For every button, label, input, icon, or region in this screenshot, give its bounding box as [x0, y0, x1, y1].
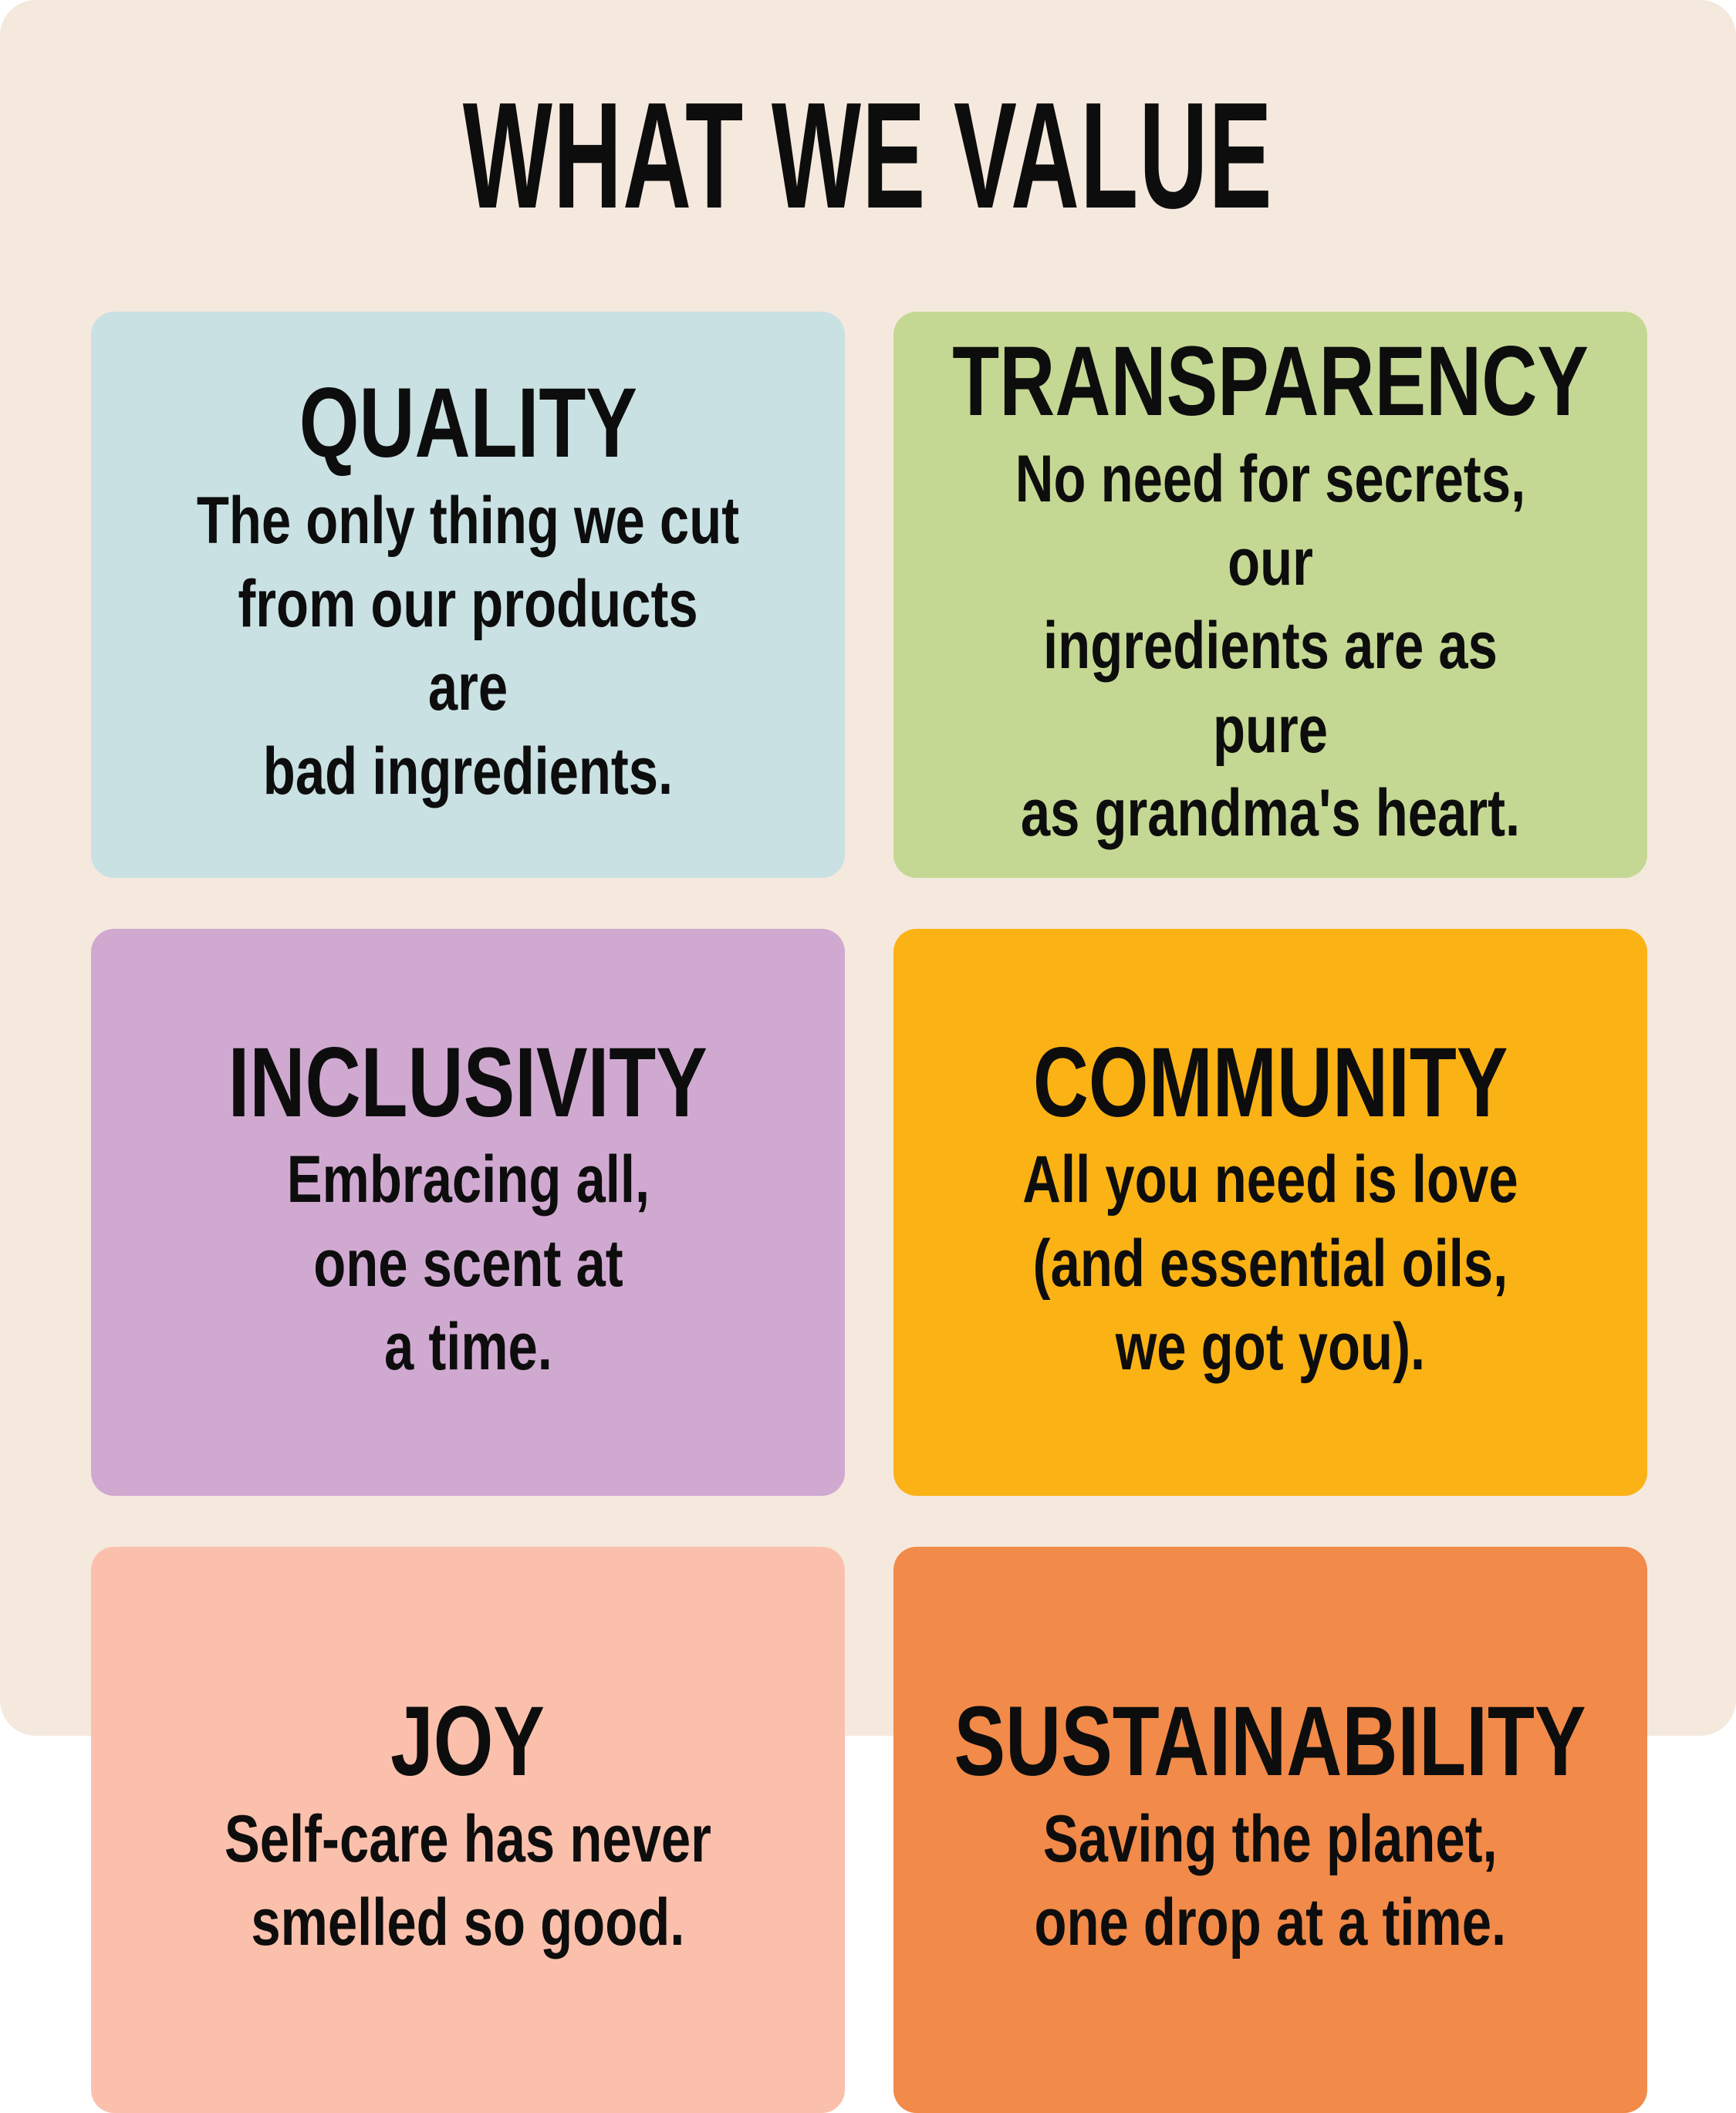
value-description-transparency: No need for secrets, our ingredients are…	[994, 437, 1548, 856]
value-card-community: COMMUNITY All you need is love (and esse…	[893, 929, 1647, 1495]
value-card-transparency: TRANSPARENCY No need for secrets, our in…	[893, 312, 1647, 878]
value-card-sustainability: SUSTAINABILITY Saving the planet, one dr…	[893, 1547, 1647, 2113]
value-card-joy: JOY Self-care has never smelled so good.	[91, 1547, 845, 2113]
value-title-community: COMMUNITY	[1033, 1033, 1508, 1134]
value-description-joy: Self-care has never smelled so good.	[225, 1797, 711, 1965]
values-grid: QUALITY The only thing we cut from our p…	[91, 312, 1645, 2113]
value-description-inclusivity: Embracing all, one scent at a time.	[286, 1138, 649, 1389]
value-title-joy: JOY	[391, 1692, 545, 1793]
values-poster: WHAT WE VALUE QUALITY The only thing we …	[0, 0, 1736, 1736]
value-card-inclusivity: INCLUSIVITY Embracing all, one scent at …	[91, 929, 845, 1495]
value-title-inclusivity: INCLUSIVITY	[228, 1033, 708, 1134]
value-description-community: All you need is love (and essential oils…	[1022, 1138, 1518, 1389]
value-title-quality: QUALITY	[299, 373, 637, 474]
value-title-sustainability: SUSTAINABILITY	[954, 1692, 1586, 1793]
value-description-sustainability: Saving the planet, one drop at a time.	[1035, 1797, 1507, 1965]
value-card-quality: QUALITY The only thing we cut from our p…	[91, 312, 845, 878]
poster-header: WHAT WE VALUE	[91, 0, 1645, 312]
page-title: WHAT WE VALUE	[463, 80, 1273, 231]
value-title-transparency: TRANSPARENCY	[952, 332, 1589, 433]
value-description-quality: The only thing we cut from our products …	[191, 479, 745, 813]
